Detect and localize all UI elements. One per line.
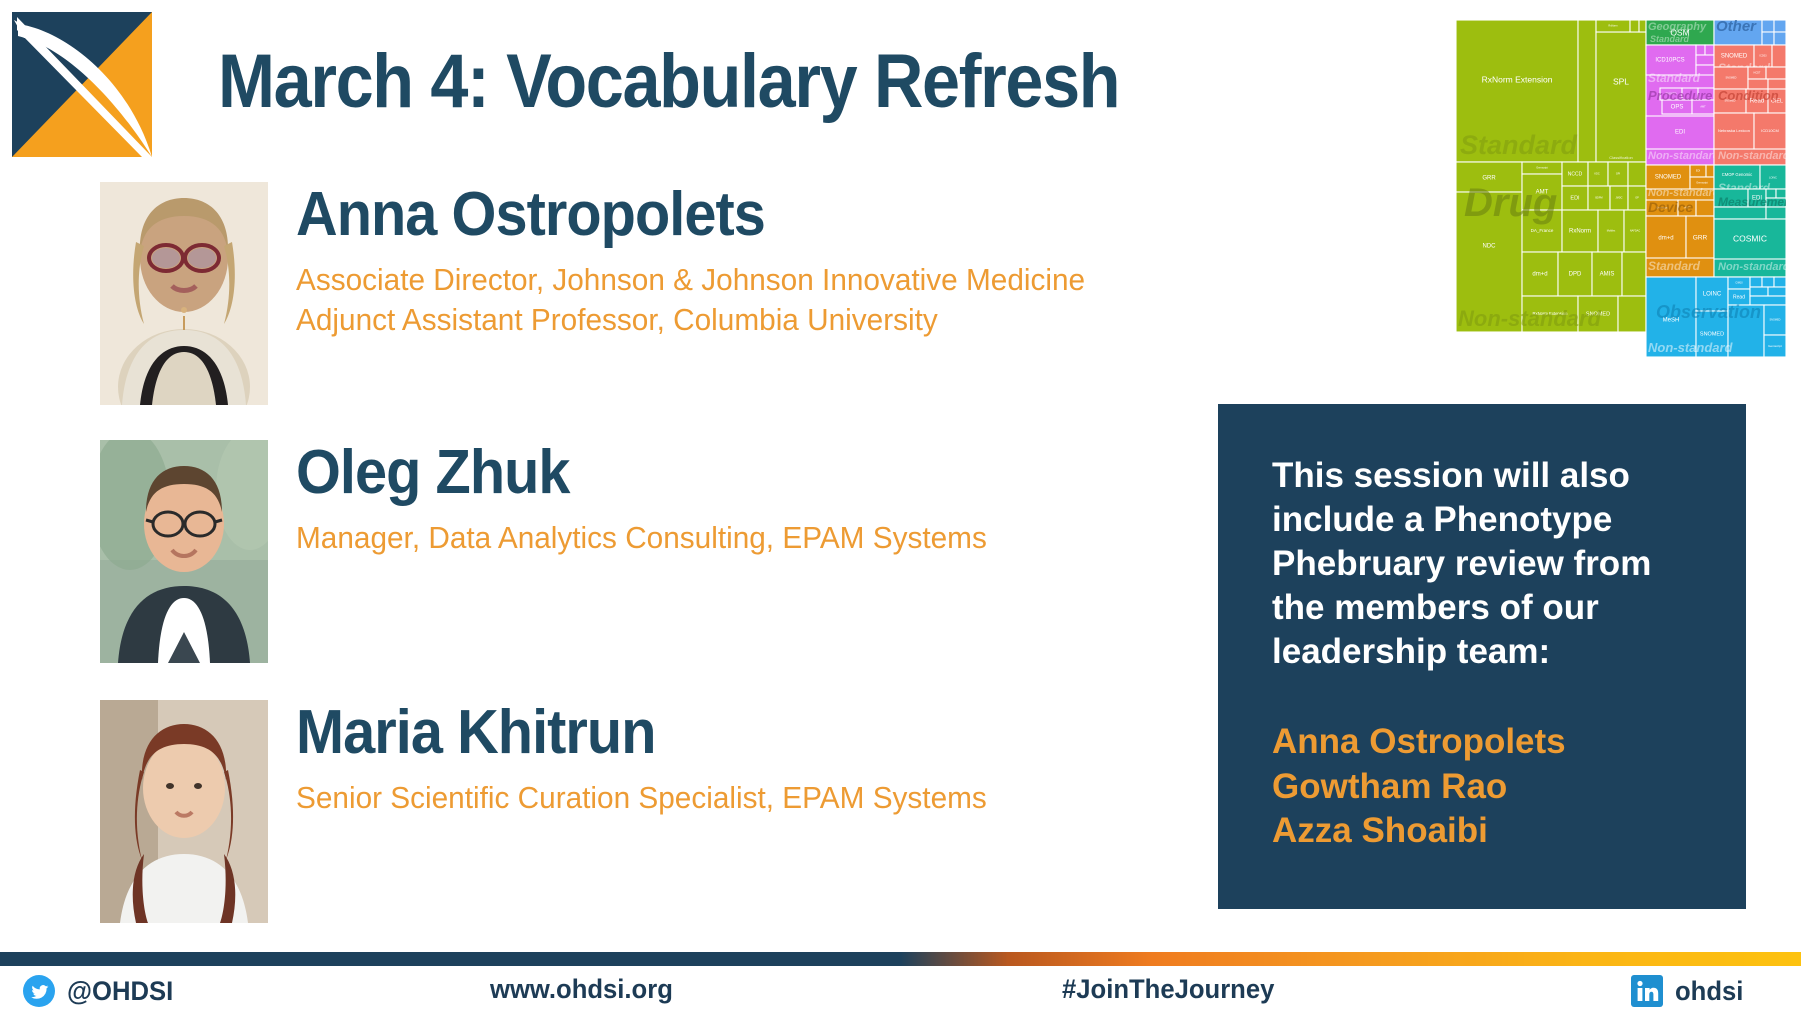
svg-text:Other: Other (1716, 20, 1757, 35)
svg-text:Standard: Standard (1650, 34, 1690, 44)
svg-text:AMT: AMT (1700, 106, 1706, 109)
svg-text:RxNorm: RxNorm (1608, 25, 1617, 28)
svg-text:dm+d: dm+d (1532, 272, 1547, 278)
speaker-entry-maria-khitrun: Maria Khitrun Senior Scientific Curation… (100, 700, 1016, 923)
ohdsi-logo (8, 8, 163, 163)
svg-text:LOINC: LOINC (1769, 177, 1777, 180)
svg-text:Nebraska Lexicon: Nebraska Lexicon (1718, 128, 1750, 133)
speaker-role-line: Senior Scientific Curation Specialist, E… (296, 778, 987, 818)
svg-text:GP: GP (1635, 197, 1639, 200)
svg-text:RxNorm: RxNorm (1569, 229, 1591, 235)
svg-text:SNOMED: SNOMED (1726, 77, 1737, 80)
callout-name: Gowtham Rao (1272, 765, 1700, 809)
svg-text:Geography: Geography (1648, 21, 1707, 33)
svg-text:EDI: EDI (1696, 170, 1700, 173)
svg-text:Drug: Drug (1464, 181, 1557, 225)
vocabulary-treemap-chart: .tm{stroke:#fff;stroke-width:1.1} .lg{fi… (1456, 20, 1786, 357)
callout-name-list: Anna Ostropolets Gowtham Rao Azza Shoaib… (1272, 720, 1700, 852)
svg-text:SPL: SPL (1613, 76, 1629, 86)
svg-text:Observation: Observation (1656, 302, 1761, 322)
svg-text:SNOMED: SNOMED (1700, 331, 1724, 337)
svg-text:GRR: GRR (1693, 235, 1708, 242)
avatar-anna-ostropolets (100, 182, 268, 405)
svg-text:CIM10: CIM10 (1735, 282, 1743, 285)
svg-text:Gemscript: Gemscript (1536, 167, 1548, 170)
linkedin-handle: ohdsi (1675, 976, 1743, 1007)
avatar-oleg-zhuk (100, 440, 268, 663)
svg-text:Classification: Classification (1609, 155, 1633, 160)
svg-text:HCDT: HCDT (1754, 72, 1761, 75)
linkedin-icon (1630, 974, 1664, 1008)
svg-text:COSMIC: COSMIC (1733, 233, 1767, 243)
svg-text:Procedure: Procedure (1648, 88, 1712, 103)
twitter-link[interactable]: @OHDSI (22, 974, 179, 1008)
speaker-text: Maria Khitrun Senior Scientific Curation… (296, 700, 1016, 818)
svg-text:BDPM: BDPM (1595, 197, 1602, 200)
svg-text:ICD10PCS: ICD10PCS (1655, 58, 1684, 64)
svg-text:NDC: NDC (1483, 244, 1497, 250)
speaker-name: Anna Ostropolets (296, 184, 1060, 246)
website-label: www.ohdsi.org (490, 974, 673, 1005)
svg-text:Standard: Standard (1460, 130, 1578, 160)
svg-text:DPD: DPD (1569, 272, 1582, 278)
speaker-text: Anna Ostropolets Associate Director, Joh… (296, 182, 1118, 339)
page-title: March 4: Vocabulary Refresh (218, 38, 1119, 125)
svg-text:Standard: Standard (1648, 259, 1701, 273)
svg-text:GPI: GPI (1616, 173, 1621, 176)
svg-text:EDI: EDI (1675, 130, 1685, 136)
svg-text:dm+d: dm+d (1658, 236, 1673, 242)
twitter-bird-icon (22, 974, 56, 1008)
twitter-handle: @OHDSI (67, 976, 173, 1007)
svg-text:Condition: Condition (1718, 88, 1779, 103)
svg-text:Non-standard: Non-standard (1648, 187, 1720, 199)
footer: @OHDSI www.ohdsi.org #JoinTheJourney ohd… (0, 966, 1801, 1013)
speaker-entry-anna-ostropolets: Anna Ostropolets Associate Director, Joh… (100, 182, 1118, 405)
footer-gradient-bar (0, 952, 1801, 966)
svg-text:Read: Read (1733, 294, 1745, 300)
hashtag-label: #JoinTheJourney (1062, 974, 1286, 1005)
svg-text:Gemscript: Gemscript (1696, 182, 1708, 185)
avatar-maria-khitrun (100, 700, 268, 923)
svg-text:DA_France: DA_France (1531, 228, 1554, 233)
svg-text:Gemscript: Gemscript (1768, 344, 1782, 348)
svg-text:NAFDAC: NAFDAC (1630, 230, 1640, 233)
svg-text:OPS: OPS (1671, 105, 1684, 111)
callout-box: This session will also include a Phenoty… (1218, 404, 1746, 909)
svg-text:NCCD: NCCD (1568, 171, 1583, 177)
svg-text:Non-standard: Non-standard (1718, 150, 1786, 162)
svg-text:CMOP Genomic: CMOP Genomic (1722, 172, 1752, 177)
svg-text:Non-standard: Non-standard (1648, 340, 1734, 355)
speaker-role-line: Adjunct Assistant Professor, Columbia Un… (296, 300, 1085, 340)
svg-text:LOINC: LOINC (1703, 292, 1722, 298)
svg-text:JMDC: JMDC (1616, 197, 1623, 200)
callout-name: Anna Ostropolets (1272, 720, 1700, 764)
svg-text:Multilex: Multilex (1607, 230, 1616, 233)
svg-text:Device: Device (1648, 199, 1693, 215)
speaker-role-line: Associate Director, Johnson & Johnson In… (296, 260, 1085, 300)
svg-text:SNOMED: SNOMED (1721, 54, 1748, 60)
callout-name: Azza Shoaibi (1272, 809, 1700, 853)
svg-text:ICD10CM: ICD10CM (1761, 128, 1779, 133)
svg-text:Non-standard: Non-standard (1718, 261, 1786, 273)
svg-text:RxNorm Extension: RxNorm Extension (1482, 74, 1553, 84)
svg-text:Non-standard: Non-standard (1648, 150, 1720, 162)
svg-text:SNOMED: SNOMED (1655, 175, 1682, 181)
speaker-name: Maria Khitrun (296, 702, 965, 764)
svg-text:ICD03: ICD03 (1759, 55, 1767, 58)
svg-text:SNOMED: SNOMED (1770, 319, 1781, 322)
svg-text:Non-standard: Non-standard (1458, 306, 1602, 331)
svg-text:AMIS: AMIS (1600, 272, 1615, 278)
speaker-entry-oleg-zhuk: Oleg Zhuk Manager, Data Analytics Consul… (100, 440, 1016, 663)
speaker-name: Oleg Zhuk (296, 442, 965, 504)
linkedin-link[interactable]: ohdsi (1630, 974, 1747, 1008)
svg-text:EDI: EDI (1570, 195, 1580, 201)
hashtag-text: #JoinTheJourney (1062, 974, 1274, 1005)
website-link[interactable]: www.ohdsi.org (490, 974, 683, 1005)
callout-text: This session will also include a Phenoty… (1272, 454, 1700, 674)
speaker-role-line: Manager, Data Analytics Consulting, EPAM… (296, 518, 987, 558)
svg-text:KDC: KDC (1594, 173, 1599, 176)
speaker-text: Oleg Zhuk Manager, Data Analytics Consul… (296, 440, 1016, 558)
